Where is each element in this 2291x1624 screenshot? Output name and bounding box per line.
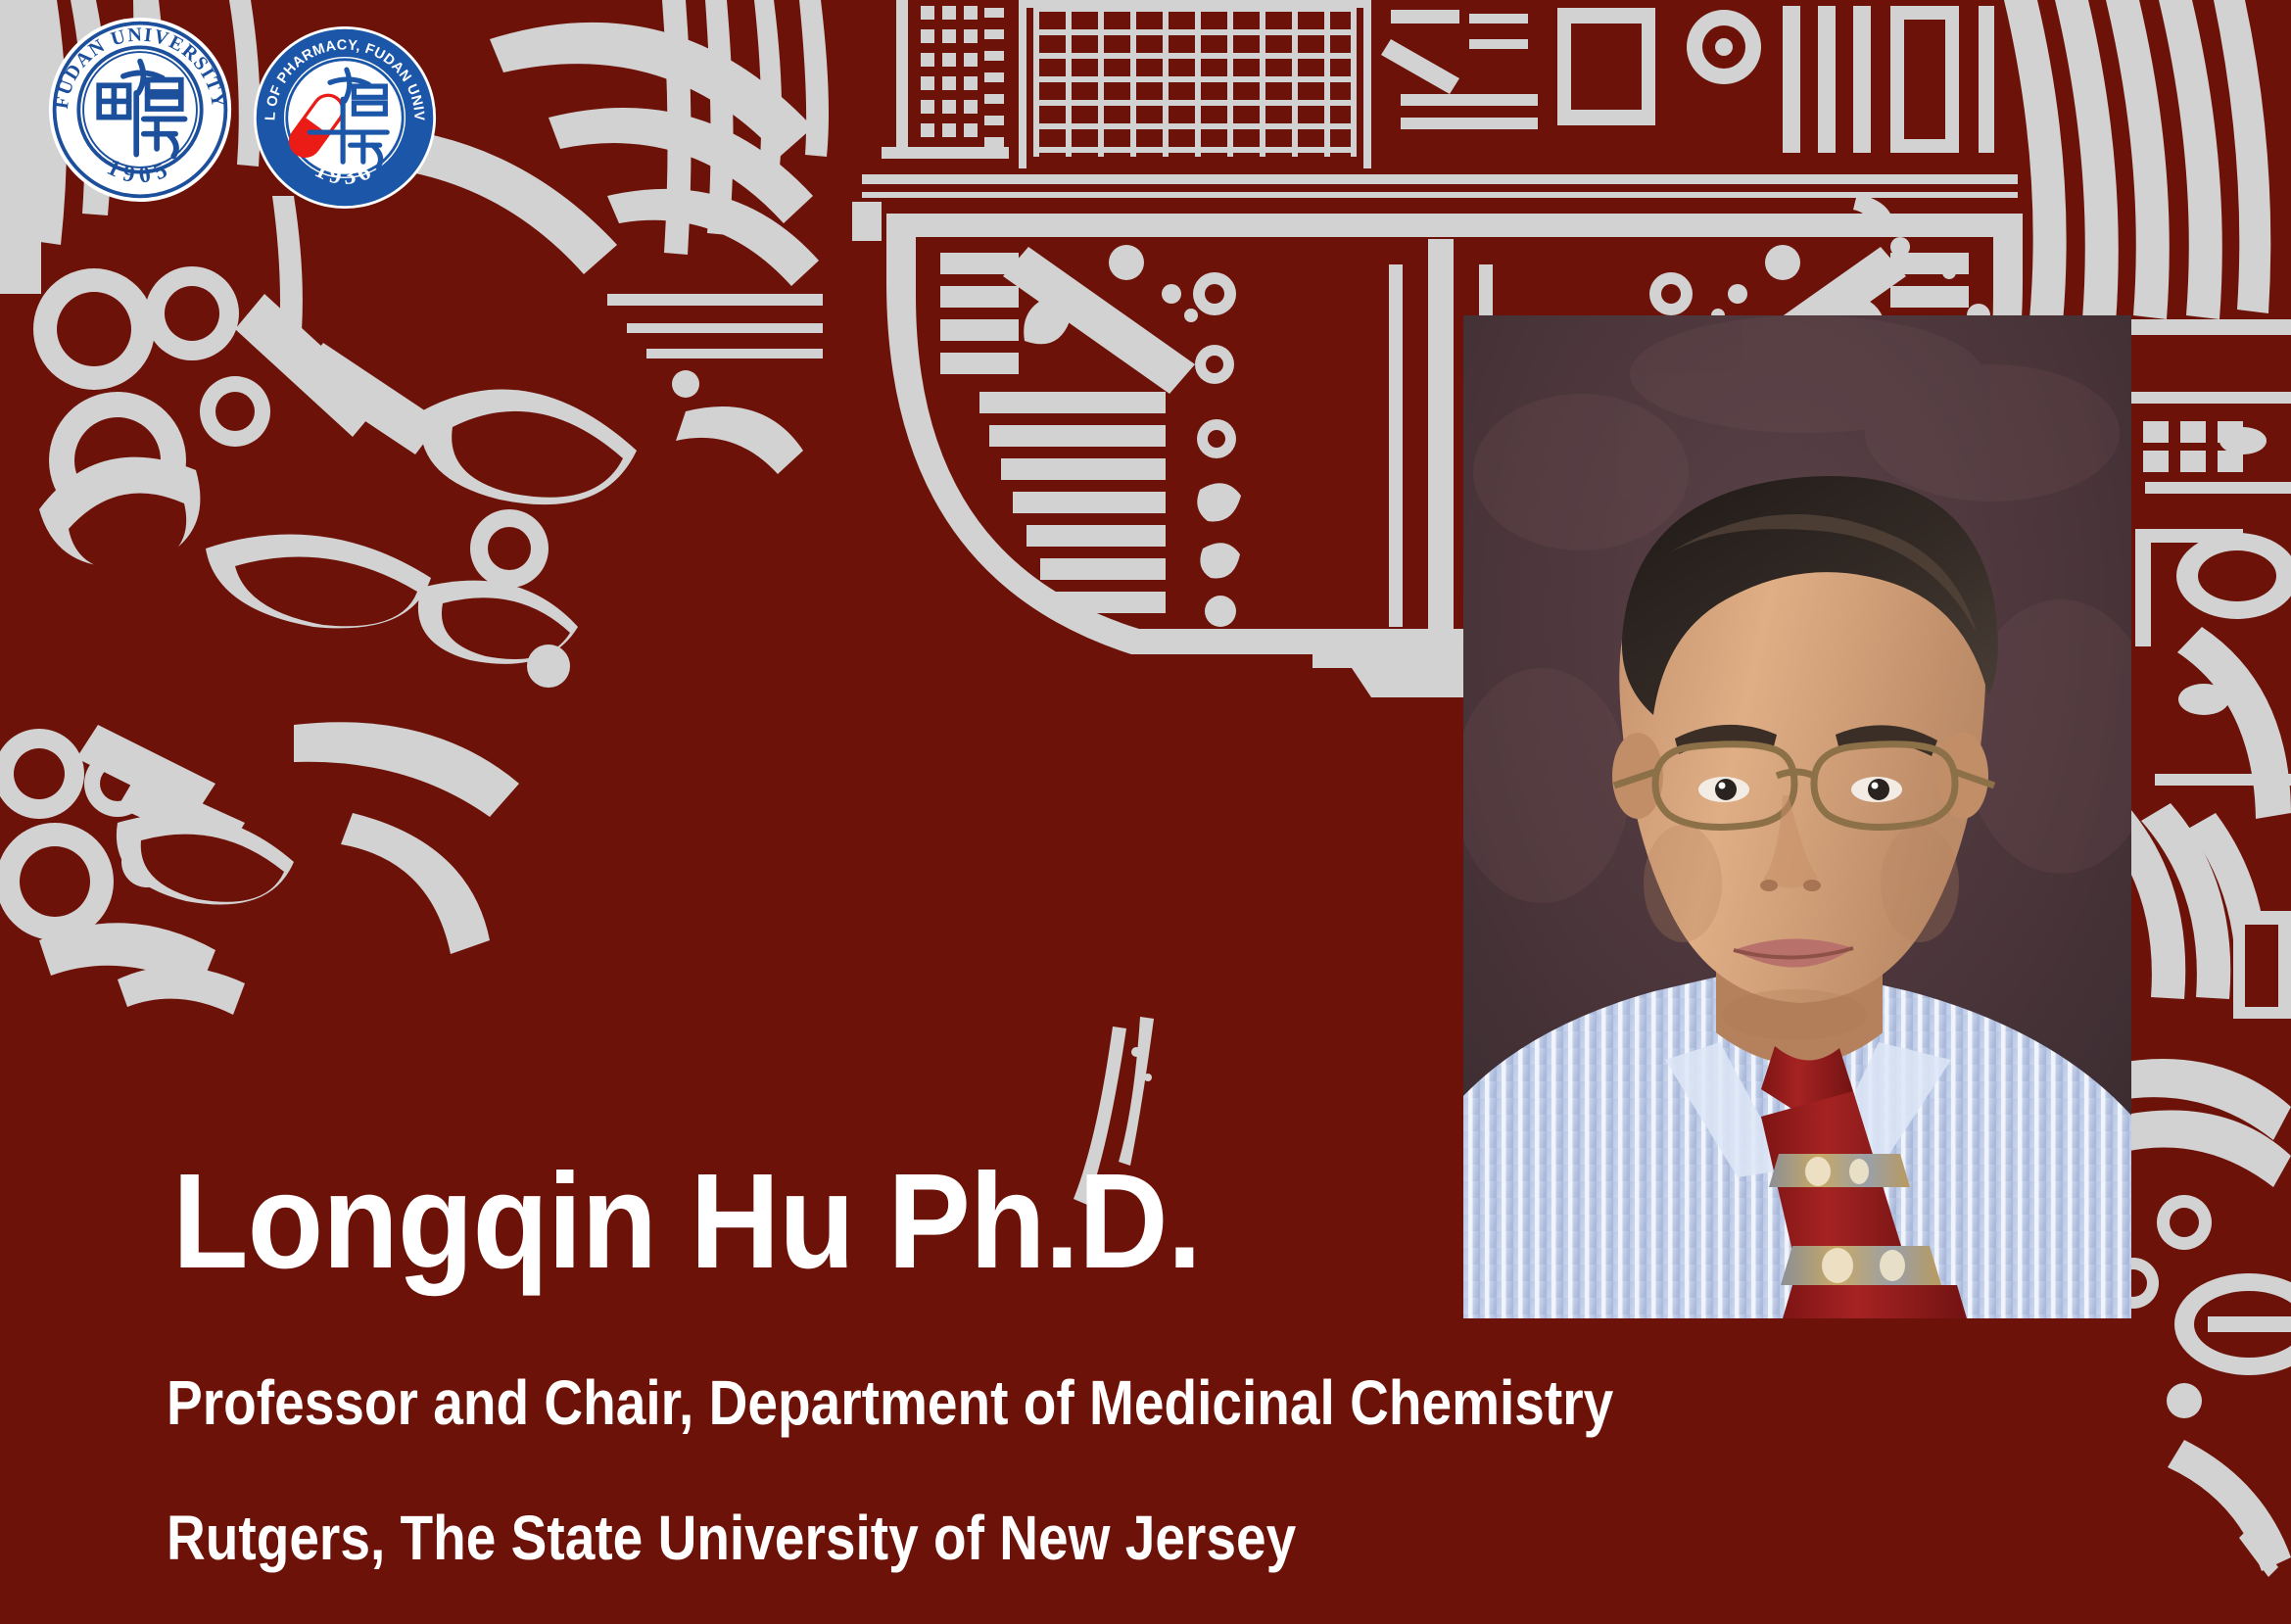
fudan-university-logo: FUDAN UNIVERSITY 1905	[47, 14, 233, 206]
subtitle-line-2: Rutgers, The State University of New Jer…	[167, 1506, 1296, 1569]
page-title: Longqin Hu Ph.D.	[172, 1154, 1201, 1289]
longqin-hu-headshot	[1463, 315, 2131, 1318]
title-slide: FUDAN UNIVERSITY 1905	[0, 0, 2291, 1624]
subtitle-line-1: Professor and Chair, Department of Medic…	[167, 1371, 1613, 1434]
school-of-pharmacy-fudan-logo: SCHOOL OF PHARMACY, FUDAN UNIVERSITY 193…	[253, 22, 437, 214]
